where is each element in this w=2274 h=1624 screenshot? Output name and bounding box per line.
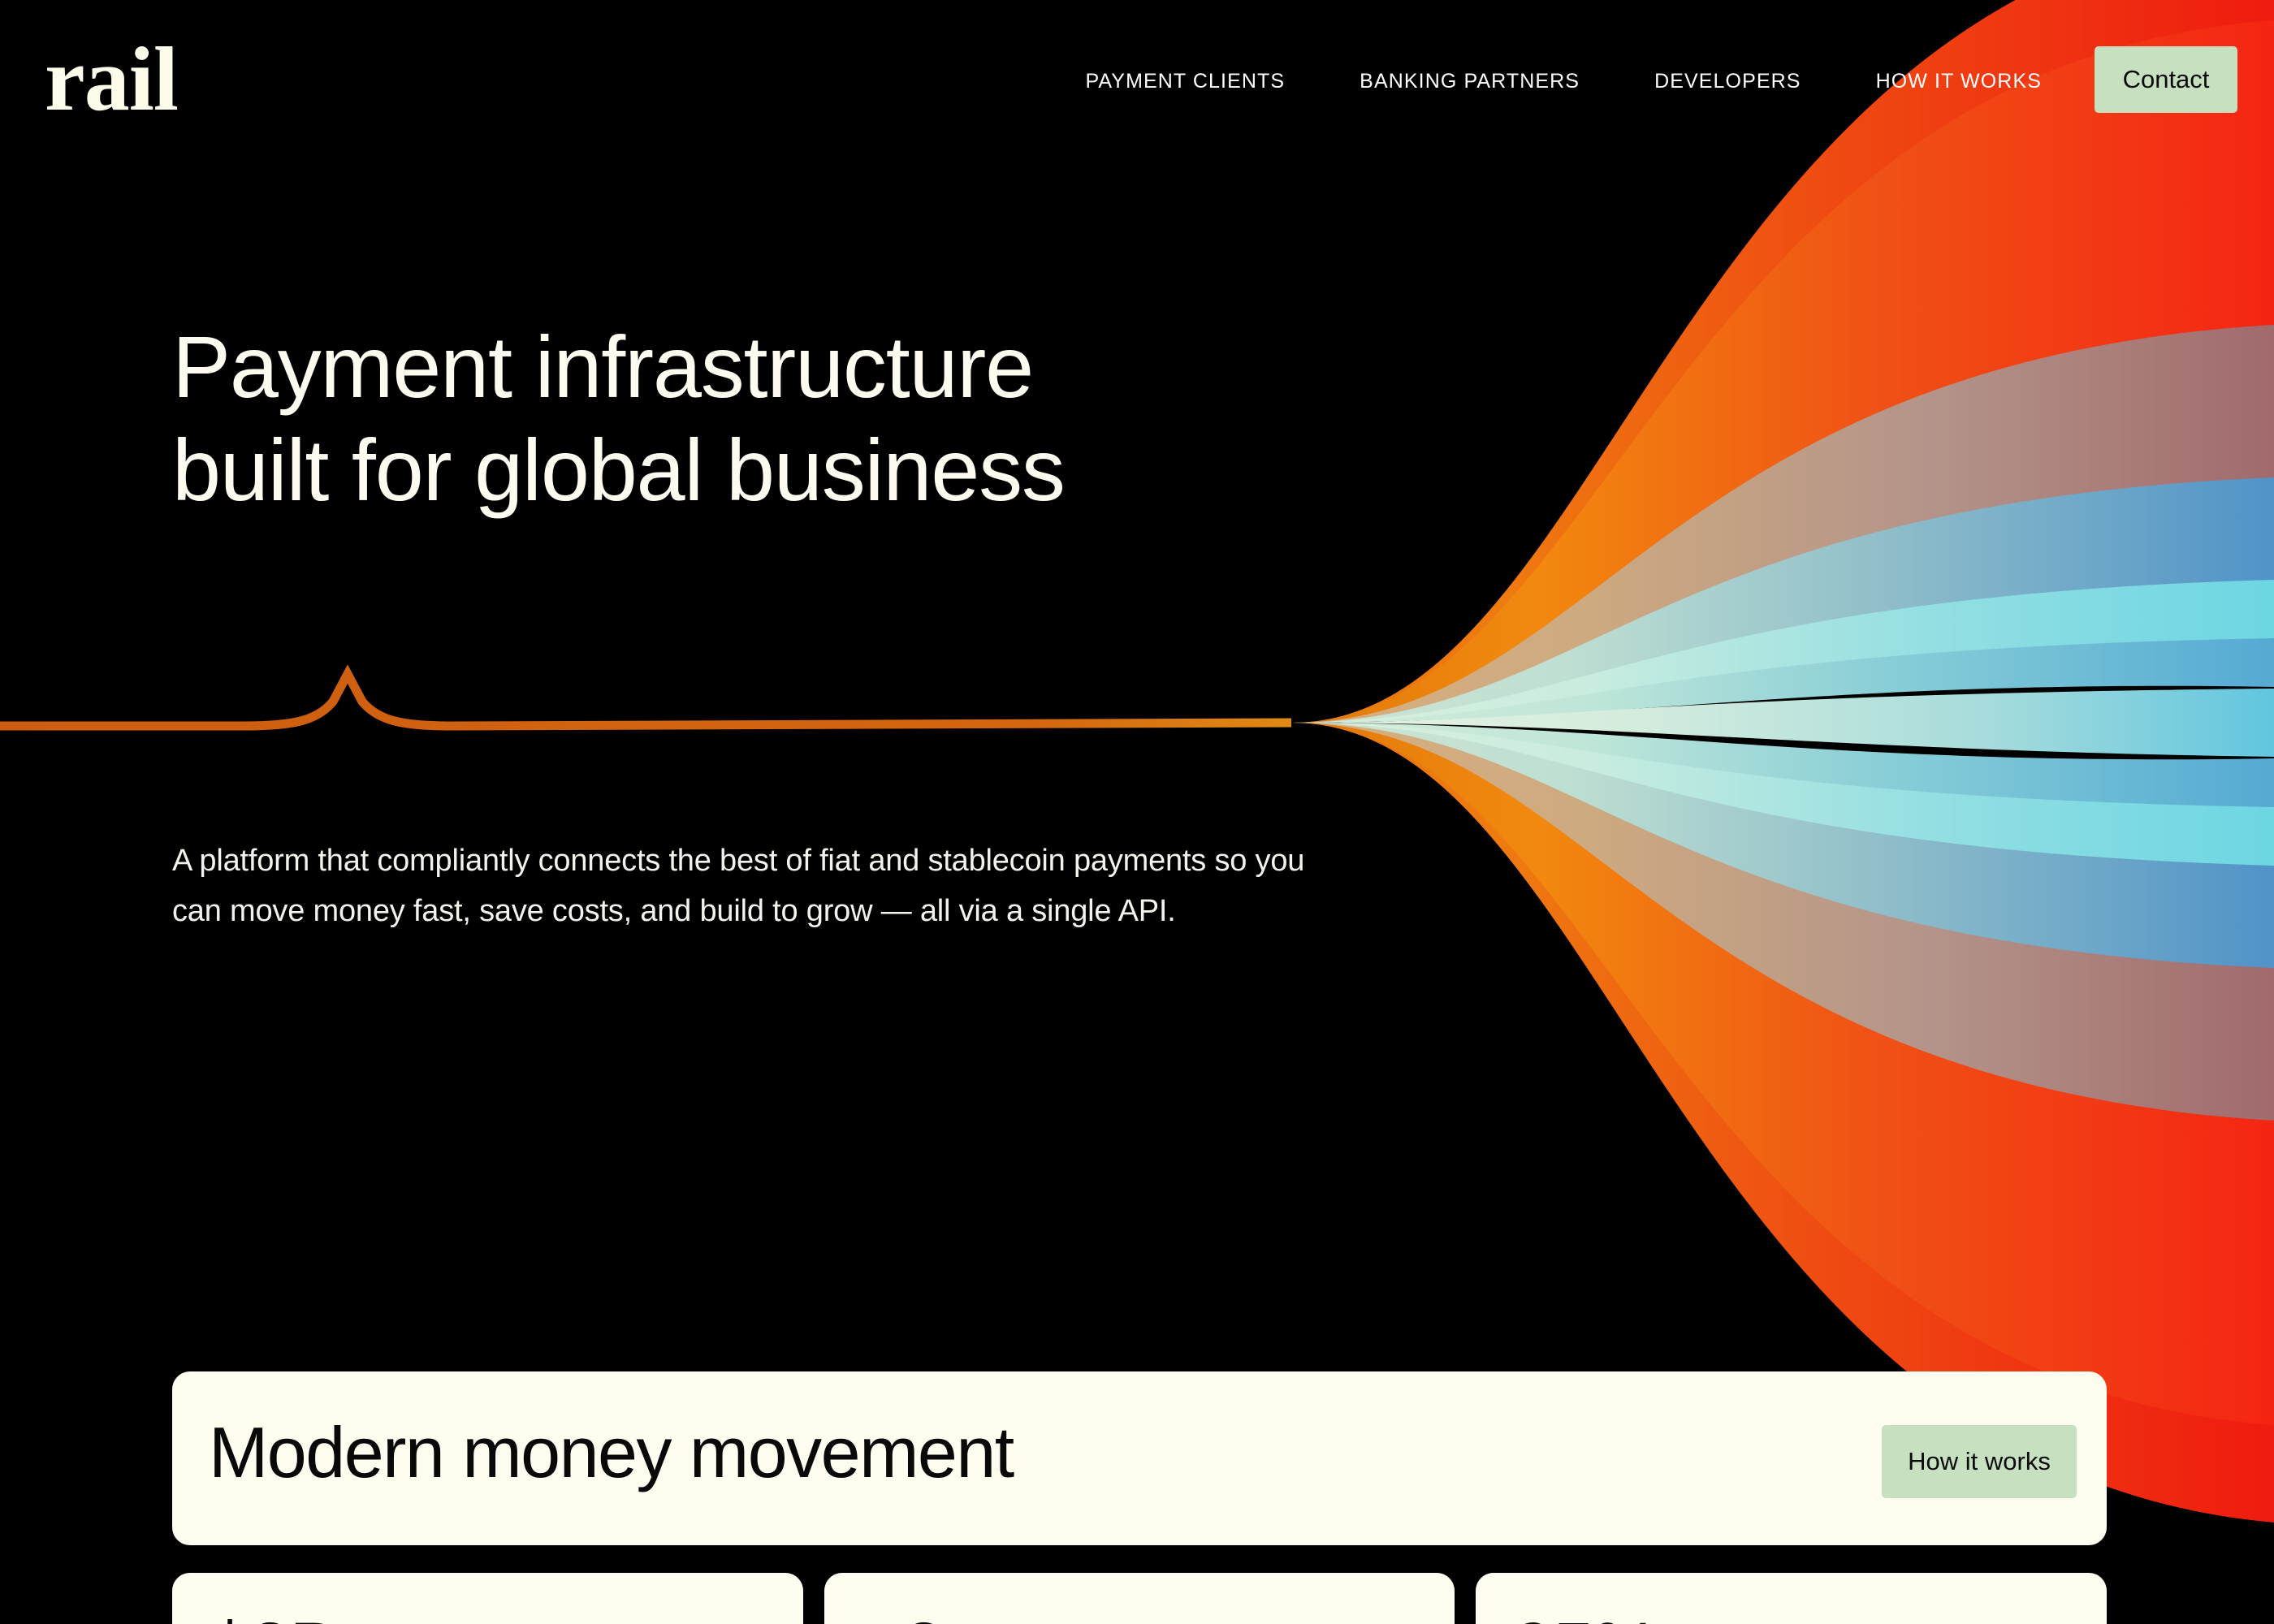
nav-item-payment-clients[interactable]: PAYMENT CLIENTS [1048, 70, 1322, 93]
stat-card[interactable]: $2B+ [172, 1573, 803, 1624]
ribbon-band-core [1291, 689, 2274, 757]
hero-subtitle: A platform that compliantly connects the… [172, 836, 1325, 936]
ribbon-band-mauve-lower [1291, 723, 2274, 1121]
ribbon-band-mauve-upper [1291, 325, 2274, 723]
ribbon-band-blue2-upper [1291, 638, 2274, 723]
section-title: Modern money movement [209, 1414, 1014, 1492]
stat-value: 95% [1512, 1612, 1658, 1624]
ribbon-band-cyan-upper [1291, 580, 2274, 723]
nav-item-developers[interactable]: DEVELOPERS [1617, 70, 1839, 93]
stat-value: +3 [861, 1612, 944, 1624]
ribbon-band-cyan-lower [1291, 723, 2274, 866]
ribbon-band-blue2-lower [1291, 723, 2274, 807]
site-header: rail PAYMENT CLIENTS BANKING PARTNERS DE… [0, 0, 2274, 159]
modern-money-panel: Modern money movement How it works [172, 1371, 2107, 1545]
contact-button[interactable]: Contact [2095, 46, 2237, 113]
landing-page: rail PAYMENT CLIENTS BANKING PARTNERS DE… [0, 0, 2274, 1624]
how-it-works-button[interactable]: How it works [1882, 1425, 2077, 1498]
brand-logo[interactable]: rail [45, 34, 178, 125]
stat-value: $2B+ [209, 1612, 380, 1624]
nav-item-how-it-works[interactable]: HOW IT WORKS [1839, 70, 2079, 93]
hero-title: Payment infrastructure built for global … [172, 315, 1065, 522]
hero-section: Payment infrastructure built for global … [172, 315, 1065, 522]
stat-card-row: $2B+ +3 95% [172, 1573, 2107, 1624]
main-navigation: PAYMENT CLIENTS BANKING PARTNERS DEVELOP… [1048, 70, 2079, 93]
stat-card[interactable]: 95% [1476, 1573, 2107, 1624]
ribbon-band-blue-upper [1291, 477, 2274, 723]
nav-item-banking-partners[interactable]: BANKING PARTNERS [1322, 70, 1617, 93]
ribbon-band-blue-lower [1291, 723, 2274, 968]
stat-card[interactable]: +3 [824, 1573, 1455, 1624]
ribbon-band-red2-lower [1291, 723, 2274, 1425]
signal-line [0, 674, 1291, 726]
